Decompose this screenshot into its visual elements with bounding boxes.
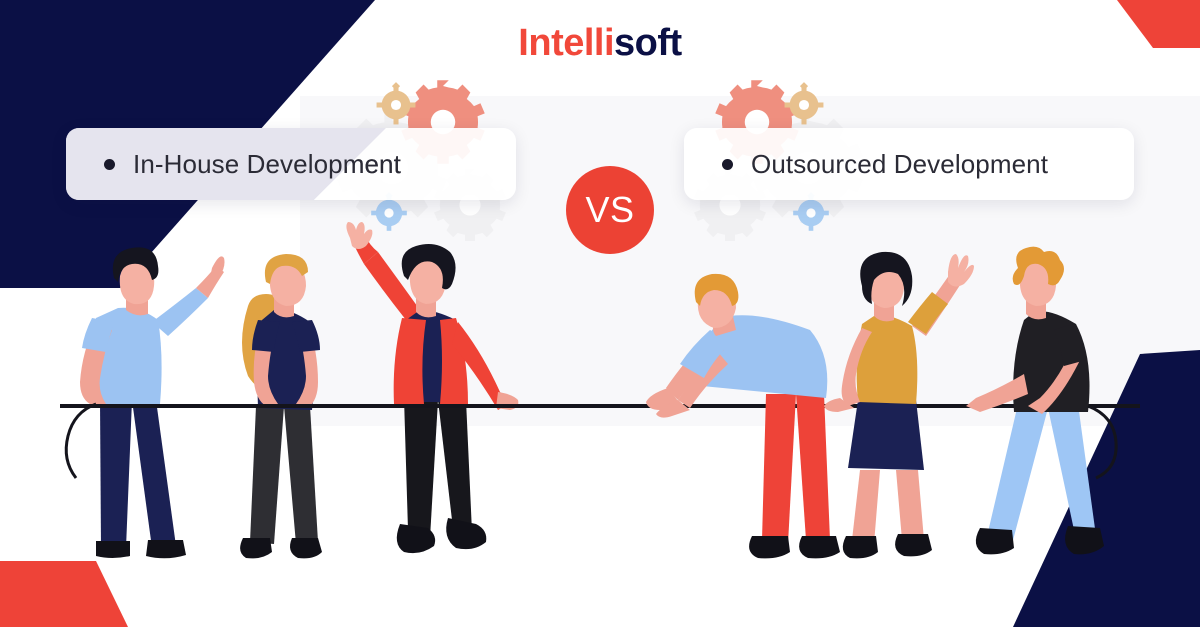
person-2-shoe-back [240,538,272,558]
card-in-house-inner-text: In-House Development [66,149,401,180]
person-5-shoe-back [843,536,878,558]
person-5-skirt [848,400,924,470]
card-in-house-text-layer: In-House Development [66,128,516,200]
person-5-leg-back [852,470,880,544]
person-3-shoe-front [446,518,486,549]
person-1-leg-front [132,400,176,548]
person-1-shoe-back [96,541,130,558]
person-4-shoe-back [749,536,790,558]
person-6-shoe-back [976,528,1014,554]
card-outsourced-development[interactable]: Outsourced Development [684,128,1134,200]
person-1-shoe-front [146,540,186,558]
person-6-leg-front [1048,404,1096,536]
person-1-leg-back [100,400,132,548]
person-5-shoe-front [895,534,932,556]
person-3-jacket-left [394,318,426,404]
brand-part-secondary: soft [614,22,682,64]
vs-label: VS [585,192,634,228]
person-1-in-house-pointing [66,247,224,558]
person-5-top [857,315,918,404]
person-4-shoe-front [799,536,840,558]
brand-wordmark: Intellisoft [0,24,1200,62]
person-4-leg-back [762,394,796,544]
card-label-outsourced: Outsourced Development [751,149,1048,180]
person-5-hand-raised [948,254,974,287]
person-1-sleeve-right [152,288,208,336]
vs-badge: VS [566,166,654,254]
person-2-leg-back [250,406,284,544]
person-2-shoe-front [290,538,322,558]
person-6-leg-back [988,404,1048,544]
illustration-canvas: Intellisoft In-House Development In-Hous… [0,0,1200,627]
bullet-icon-in-house-top [104,159,115,170]
person-5-leg-front [896,470,924,540]
bullet-icon-outsourced [722,159,733,170]
person-1-hand-pointing [210,256,225,279]
person-4-outsourced-pulling [646,274,840,559]
brand-part-primary: Intelli [518,22,614,64]
card-label-in-house-top: In-House Development [133,149,401,180]
card-outsourced-inner: Outsourced Development [684,149,1048,180]
person-4-leg-front [796,394,830,540]
tug-of-war-scene [0,0,1200,627]
rope-tail-right [1088,406,1116,478]
person-3-leg-back [404,398,438,538]
person-6-shoe-front [1065,526,1104,554]
rope-tail-left [66,404,96,478]
person-3-in-house-arm-raised [346,222,518,553]
person-3-leg-front [438,400,472,532]
person-6-outsourced-pulling-back [966,247,1116,555]
person-2-leg-front [284,406,318,544]
